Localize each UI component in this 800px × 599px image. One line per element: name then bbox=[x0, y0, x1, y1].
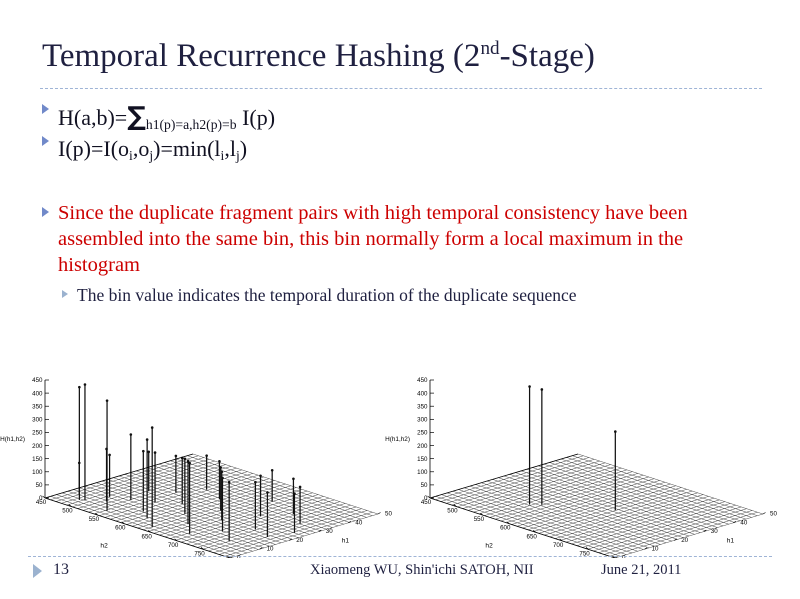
bullet-triangle-icon bbox=[42, 207, 49, 217]
svg-text:50: 50 bbox=[36, 482, 43, 489]
page-title-main: Temporal Recurrence Hashing (2 bbox=[42, 38, 480, 74]
formula-sub-3: i bbox=[221, 148, 225, 163]
bullet-item-formula-2: I(p)=I(oi,oj)=min(li,lj) bbox=[42, 136, 247, 162]
sub-statement-text: The bin value indicates the temporal dur… bbox=[77, 284, 717, 306]
svg-text:400: 400 bbox=[32, 390, 43, 397]
formula-sub-2: j bbox=[149, 148, 153, 163]
bullet-triangle-icon bbox=[42, 104, 49, 114]
svg-text:400: 400 bbox=[417, 390, 428, 397]
svg-text:550: 550 bbox=[89, 516, 100, 523]
svg-text:10: 10 bbox=[267, 546, 274, 553]
svg-text:600: 600 bbox=[115, 525, 126, 532]
bullet-item-red-statement: Since the duplicate fragment pairs with … bbox=[42, 200, 722, 278]
svg-text:150: 150 bbox=[32, 456, 43, 463]
formula-i-definition: I(p)=I(oi,oj)=min(li,lj) bbox=[58, 136, 247, 162]
svg-text:300: 300 bbox=[32, 417, 43, 424]
svg-text:30: 30 bbox=[326, 528, 333, 535]
svg-text:40: 40 bbox=[740, 519, 747, 526]
svg-text:700: 700 bbox=[168, 542, 179, 549]
svg-text:20: 20 bbox=[681, 537, 688, 544]
formula-sum-subscript: h1(p)=a,h2(p)=b bbox=[146, 117, 237, 132]
svg-text:450: 450 bbox=[36, 499, 47, 506]
svg-text:250: 250 bbox=[417, 430, 428, 437]
page-number: 13 bbox=[53, 561, 69, 579]
footer-credit: Xiaomeng WU, Shin'ichi SATOH, NII bbox=[310, 562, 534, 579]
svg-text:200: 200 bbox=[32, 443, 43, 450]
svg-text:350: 350 bbox=[32, 403, 43, 410]
svg-text:40: 40 bbox=[355, 519, 362, 526]
svg-text:200: 200 bbox=[417, 443, 428, 450]
svg-text:550: 550 bbox=[474, 516, 485, 523]
formula-part-3: )=min(l bbox=[153, 136, 220, 161]
svg-text:30: 30 bbox=[711, 528, 718, 535]
footer-date: June 21, 2011 bbox=[601, 562, 681, 579]
svg-text:50: 50 bbox=[770, 511, 777, 518]
footer-divider bbox=[28, 556, 772, 557]
svg-text:600: 600 bbox=[500, 525, 511, 532]
formula-part-4: ,l bbox=[224, 136, 236, 161]
chart-histogram-sparse-svg: 0501001502002503003504004504505005506006… bbox=[385, 358, 785, 558]
svg-text:500: 500 bbox=[62, 508, 73, 515]
page-title: Temporal Recurrence Hashing (2nd-Stage) bbox=[42, 36, 772, 76]
svg-text:H(h1,h2): H(h1,h2) bbox=[385, 436, 410, 443]
svg-text:450: 450 bbox=[421, 499, 432, 506]
bullet-item-formula-1: H(a,b)=∑h1(p)=a,h2(p)=b I(p) bbox=[42, 104, 275, 131]
svg-text:h1: h1 bbox=[342, 538, 350, 545]
formula-part-1: I(p)=I(o bbox=[58, 136, 129, 161]
svg-text:350: 350 bbox=[417, 403, 428, 410]
formula-part-2: ,o bbox=[133, 136, 150, 161]
svg-text:150: 150 bbox=[417, 456, 428, 463]
footer-triangle-icon bbox=[33, 564, 42, 578]
svg-text:50: 50 bbox=[421, 482, 428, 489]
svg-text:H(h1,h2): H(h1,h2) bbox=[0, 436, 25, 443]
sub-bullet-triangle-icon bbox=[62, 290, 68, 298]
svg-text:20: 20 bbox=[296, 537, 303, 544]
formula-lhs: H(a,b)= bbox=[58, 105, 127, 130]
svg-text:h2: h2 bbox=[485, 543, 493, 550]
svg-text:450: 450 bbox=[417, 377, 428, 384]
formula-rhs: I(p) bbox=[237, 105, 275, 130]
formula-sub-4: j bbox=[236, 148, 240, 163]
title-divider bbox=[40, 88, 762, 89]
svg-text:500: 500 bbox=[447, 508, 458, 515]
svg-text:250: 250 bbox=[32, 430, 43, 437]
svg-text:650: 650 bbox=[142, 533, 153, 540]
page-title-superscript: nd bbox=[480, 38, 499, 59]
formula-part-5: ) bbox=[240, 136, 247, 161]
chart-histogram-sparse: 0501001502002503003504004504505005506006… bbox=[385, 358, 785, 558]
formula-h-definition: H(a,b)=∑h1(p)=a,h2(p)=b I(p) bbox=[58, 104, 275, 131]
page-title-tail: -Stage) bbox=[500, 38, 595, 74]
formula-sub-1: i bbox=[129, 148, 133, 163]
bullet-triangle-icon bbox=[42, 136, 49, 146]
svg-text:h1: h1 bbox=[727, 538, 735, 545]
bullet-item-sub-statement: The bin value indicates the temporal dur… bbox=[62, 284, 732, 306]
svg-text:100: 100 bbox=[32, 469, 43, 476]
svg-text:700: 700 bbox=[553, 542, 564, 549]
svg-text:450: 450 bbox=[32, 377, 43, 384]
svg-text:300: 300 bbox=[417, 417, 428, 424]
svg-text:10: 10 bbox=[652, 546, 659, 553]
svg-text:100: 100 bbox=[417, 469, 428, 476]
summation-icon: ∑ bbox=[127, 102, 146, 132]
svg-text:650: 650 bbox=[527, 533, 538, 540]
svg-text:h2: h2 bbox=[100, 543, 108, 550]
chart-histogram-dense: 0501001502002503003504004504505005506006… bbox=[0, 358, 400, 558]
chart-histogram-dense-svg: 0501001502002503003504004504505005506006… bbox=[0, 358, 400, 558]
red-statement-text: Since the duplicate fragment pairs with … bbox=[58, 200, 708, 278]
